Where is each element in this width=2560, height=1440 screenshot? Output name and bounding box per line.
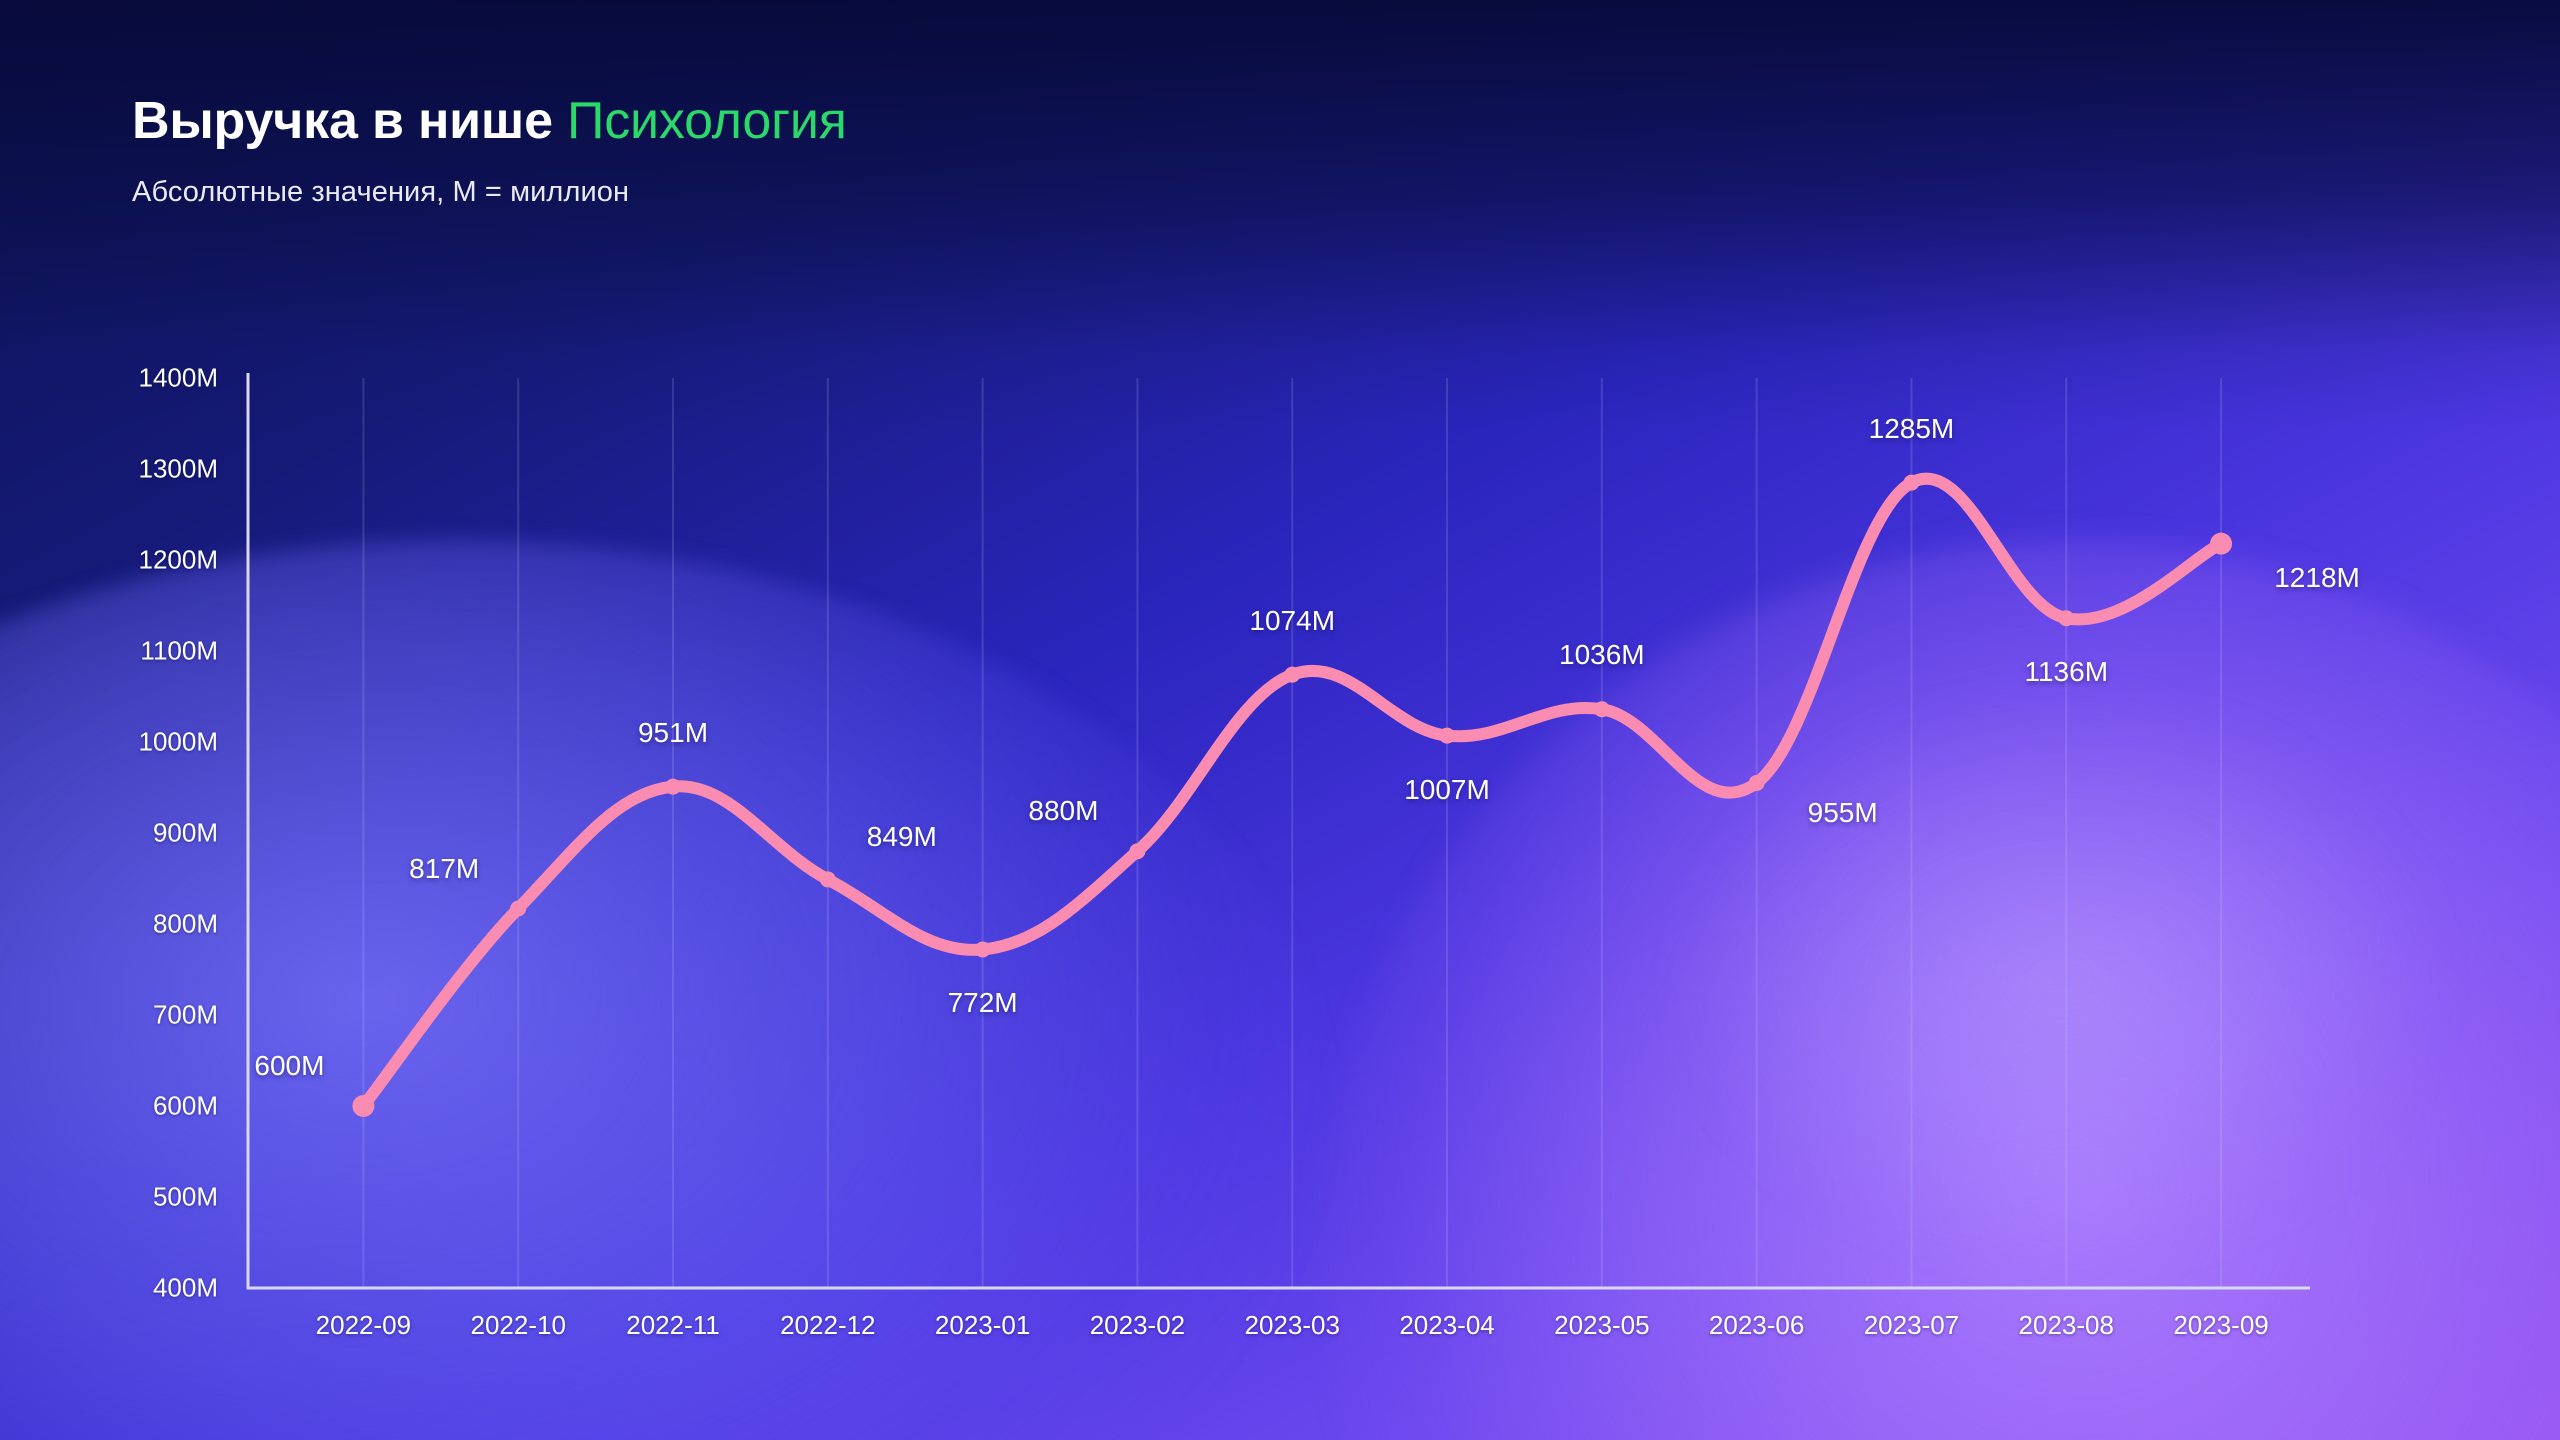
data-point-label: 1036M [1559, 639, 1645, 671]
x-axis-tick-label: 2023-06 [1709, 1310, 1804, 1341]
data-point-marker[interactable] [1903, 475, 1919, 491]
data-point-marker[interactable] [1749, 775, 1765, 791]
data-point-label: 1218M [2274, 562, 2360, 594]
data-point-label: 1136M [2024, 656, 2108, 688]
y-axis-tick-label: 500M [40, 1182, 218, 1213]
x-axis-tick-label: 2023-02 [1090, 1310, 1185, 1341]
data-point-marker[interactable] [820, 871, 836, 887]
data-point-label: 1074M [1249, 605, 1335, 637]
x-axis-tick-label: 2023-04 [1399, 1310, 1494, 1341]
chart-canvas: Выручка в нише Психология Абсолютные зна… [0, 0, 2560, 1440]
y-axis-tick-label: 1400M [40, 363, 218, 394]
y-axis-tick-label: 600M [40, 1091, 218, 1122]
data-point-marker[interactable] [1129, 843, 1145, 859]
data-point-marker[interactable] [665, 779, 681, 795]
data-point-marker[interactable] [510, 901, 526, 917]
data-point-marker[interactable] [2210, 533, 2232, 555]
y-axis-tick-label: 800M [40, 909, 218, 940]
data-point-label: 849M [867, 821, 937, 853]
x-axis-tick-label: 2023-05 [1554, 1310, 1649, 1341]
data-point-marker[interactable] [2058, 610, 2074, 626]
data-point-marker[interactable] [1284, 667, 1300, 683]
y-axis-tick-label: 700M [40, 1000, 218, 1031]
data-point-label: 1285M [1869, 413, 1955, 445]
x-axis-tick-label: 2022-10 [470, 1310, 565, 1341]
y-axis-tick-label: 1200M [40, 545, 218, 576]
data-point-label: 600M [254, 1050, 324, 1082]
y-axis-tick-label: 1100M [40, 636, 218, 667]
x-axis-tick-label: 2022-12 [780, 1310, 875, 1341]
y-axis-tick-label: 400M [40, 1273, 218, 1304]
x-axis-tick-label: 2023-08 [2019, 1310, 2114, 1341]
data-point-label: 772M [948, 987, 1018, 1019]
data-point-marker[interactable] [975, 941, 991, 957]
data-point-label: 951M [638, 717, 708, 749]
data-point-label: 817M [409, 853, 479, 885]
chart-axes [248, 373, 2310, 1288]
data-point-label: 880M [1028, 795, 1098, 827]
chart-svg [0, 0, 2560, 1440]
y-axis-tick-label: 1000M [40, 727, 218, 758]
x-axis-tick-label: 2023-01 [935, 1310, 1030, 1341]
x-axis-tick-label: 2022-09 [316, 1310, 411, 1341]
y-axis-tick-label: 1300M [40, 454, 218, 485]
x-axis-tick-label: 2023-09 [2173, 1310, 2268, 1341]
x-axis-tick-label: 2022-11 [626, 1310, 720, 1341]
data-point-marker[interactable] [1594, 701, 1610, 717]
x-axis-tick-label: 2023-03 [1245, 1310, 1340, 1341]
y-axis-tick-label: 900M [40, 818, 218, 849]
x-axis-tick-label: 2023-07 [1864, 1310, 1959, 1341]
line-chart: 400M500M600M700M800M900M1000M1100M1200M1… [0, 0, 2560, 1440]
data-point-label: 1007M [1404, 774, 1490, 806]
data-point-label: 955M [1808, 797, 1878, 829]
data-point-marker[interactable] [352, 1095, 374, 1117]
data-point-marker[interactable] [1439, 728, 1455, 744]
